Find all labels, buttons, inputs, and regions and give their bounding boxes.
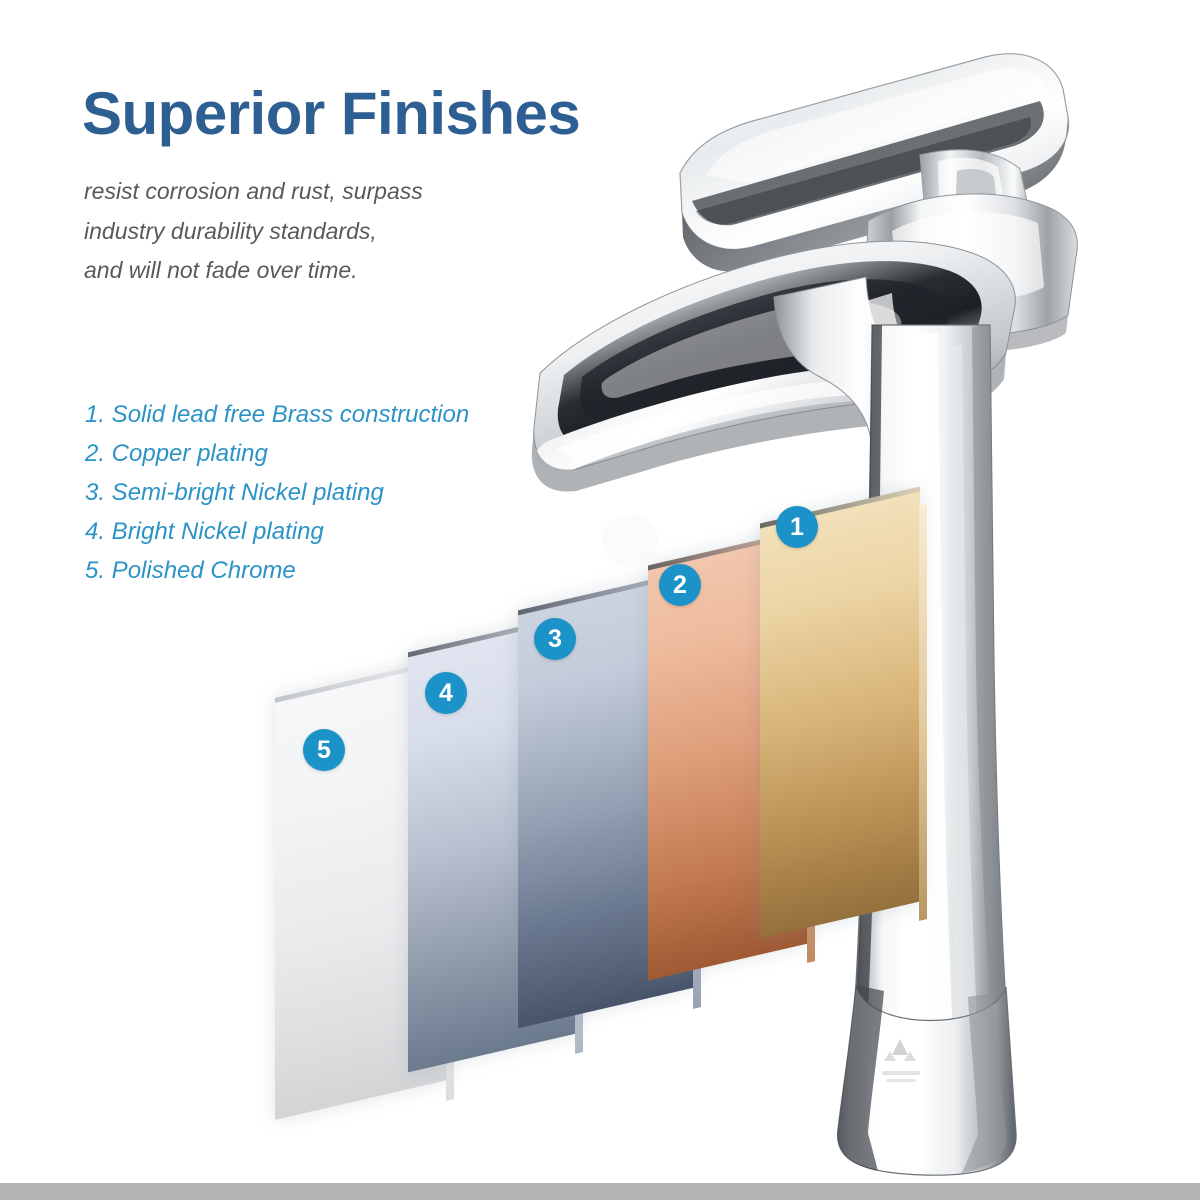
subtitle-paragraph: resist corrosion and rust, surpass indus…	[84, 172, 554, 291]
plate-badge-5[interactable]: 5	[303, 729, 345, 771]
infographic-canvas: 1 2 3 4 5 Superior Finishes	[0, 0, 1200, 1200]
page-title: Superior Finishes	[82, 82, 580, 145]
plate-badge-2[interactable]: 2	[659, 564, 701, 606]
list-item-4: 4. Bright Nickel plating	[85, 513, 555, 552]
plate-badge-1[interactable]: 1	[776, 506, 818, 548]
plate-badge-3[interactable]: 3	[534, 618, 576, 660]
plate-1-brass[interactable]	[760, 505, 920, 920]
bottom-bar	[0, 1183, 1200, 1200]
plate-badge-4[interactable]: 4	[425, 672, 467, 714]
list-item-3: 3. Semi-bright Nickel plating	[85, 474, 555, 513]
list-item-2: 2. Copper plating	[85, 435, 555, 474]
plate-1-face	[760, 487, 920, 939]
list-item-1: 1. Solid lead free Brass construction	[85, 396, 555, 435]
plate-1-edge	[919, 504, 927, 921]
subtitle-line-1: resist corrosion and rust, surpass	[84, 172, 554, 212]
finish-process-list: 1. Solid lead free Brass construction 2.…	[85, 396, 555, 590]
list-item-5: 5. Polished Chrome	[85, 552, 555, 591]
subtitle-line-3: and will not fade over time.	[84, 251, 554, 291]
subtitle-line-2: industry durability standards,	[84, 212, 554, 252]
